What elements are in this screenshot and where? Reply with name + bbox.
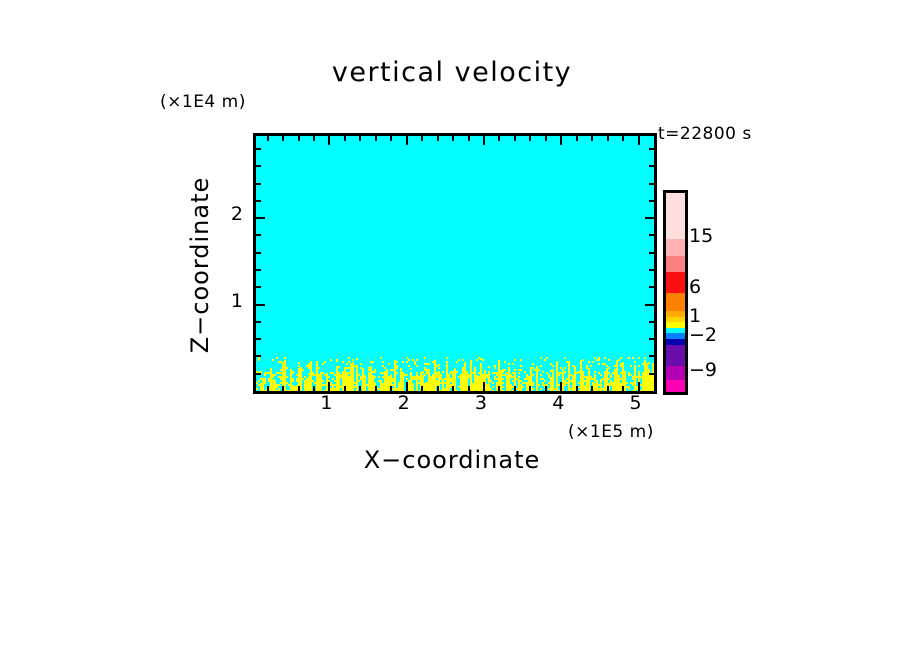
tick-top-minor [529, 136, 531, 141]
tick-top-minor [545, 136, 547, 141]
z-axis-unit-label: (×1E4 m) [160, 92, 246, 112]
tick-right-minor [649, 321, 654, 323]
tick-top-minor [591, 136, 593, 141]
colorbar-tick-label: −2 [689, 324, 717, 346]
x-axis-unit-label: (×1E5 m) [568, 422, 654, 442]
tick-top-major [483, 136, 485, 145]
x-tick-label: 4 [543, 392, 573, 414]
tick-top-minor [498, 136, 500, 141]
tick-bottom-minor [452, 386, 454, 391]
tick-right-minor [649, 234, 654, 236]
z-axis-title: Z−coordinate [186, 160, 216, 370]
tick-bottom-minor [437, 386, 439, 391]
x-axis-title: X−coordinate [0, 446, 904, 474]
tick-top-minor [576, 136, 578, 141]
x-tick-label: 5 [621, 392, 651, 414]
x-tick-label: 3 [466, 392, 496, 414]
tick-right-minor [649, 286, 654, 288]
tick-top-minor [313, 136, 315, 141]
tick-bottom-minor [545, 386, 547, 391]
tick-right-minor [649, 338, 654, 340]
colorbar [663, 190, 688, 395]
velocity-field [256, 136, 654, 391]
tick-top-minor [390, 136, 392, 141]
tick-top-minor [607, 136, 609, 141]
tick-bottom-minor [529, 386, 531, 391]
tick-top-major [560, 136, 562, 145]
tick-top-minor [282, 136, 284, 141]
tick-bottom-minor [298, 386, 300, 391]
tick-left-minor [256, 373, 261, 375]
tick-top-minor [622, 136, 624, 141]
tick-top-minor [359, 136, 361, 141]
tick-top-minor [375, 136, 377, 141]
tick-left-major [256, 304, 265, 306]
colorbar-band [666, 293, 685, 313]
tick-left-minor [256, 338, 261, 340]
x-tick-label: 2 [389, 392, 419, 414]
tick-bottom-minor [591, 386, 593, 391]
tick-left-major [256, 217, 265, 219]
colorbar-band [666, 366, 685, 381]
plot-area [253, 133, 657, 394]
tick-bottom-minor [359, 386, 361, 391]
tick-left-minor [256, 252, 261, 254]
tick-top-minor [452, 136, 454, 141]
tick-right-minor [649, 165, 654, 167]
y-tick-label: 1 [213, 290, 243, 312]
tick-bottom-minor [282, 386, 284, 391]
tick-right-minor [649, 200, 654, 202]
tick-left-minor [256, 286, 261, 288]
tick-left-minor [256, 183, 261, 185]
colorbar-band [666, 272, 685, 294]
tick-top-major [406, 136, 408, 145]
tick-right-minor [649, 252, 654, 254]
tick-right-minor [649, 183, 654, 185]
figure-canvas: vertical velocity (×1E4 m) (×1E5 m) X−co… [0, 0, 904, 654]
tick-bottom-major [483, 382, 485, 391]
tick-right-major [645, 304, 654, 306]
tick-bottom-minor [498, 386, 500, 391]
tick-right-minor [649, 355, 654, 357]
tick-bottom-major [406, 382, 408, 391]
colorbar-band [666, 256, 685, 273]
tick-bottom-minor [267, 386, 269, 391]
tick-top-minor [514, 136, 516, 141]
y-tick-label: 2 [213, 203, 243, 225]
tick-top-minor [468, 136, 470, 141]
tick-bottom-minor [607, 386, 609, 391]
x-tick-label: 1 [311, 392, 341, 414]
tick-top-major [328, 136, 330, 145]
boundary-layer-turbulence [256, 357, 654, 391]
tick-right-minor [649, 148, 654, 150]
tick-bottom-minor [390, 386, 392, 391]
tick-top-minor [421, 136, 423, 141]
tick-left-minor [256, 148, 261, 150]
tick-right-major [645, 217, 654, 219]
tick-top-minor [298, 136, 300, 141]
time-annotation: t=22800 s [658, 124, 752, 144]
colorbar-tick-label: 6 [689, 276, 701, 298]
tick-bottom-minor [468, 386, 470, 391]
tick-bottom-major [638, 382, 640, 391]
tick-right-minor [649, 373, 654, 375]
tick-bottom-major [560, 382, 562, 391]
colorbar-tick-label: 15 [689, 225, 713, 247]
colorbar-band [666, 239, 685, 257]
tick-top-major [638, 136, 640, 145]
tick-right-minor [649, 269, 654, 271]
tick-bottom-minor [622, 386, 624, 391]
tick-left-minor [256, 269, 261, 271]
tick-bottom-minor [576, 386, 578, 391]
tick-bottom-minor [421, 386, 423, 391]
colorbar-band [666, 380, 685, 393]
colorbar-band [666, 345, 685, 367]
tick-bottom-major [328, 382, 330, 391]
colorbar-tick-label: −9 [689, 359, 717, 381]
page-title: vertical velocity [0, 57, 904, 88]
tick-left-minor [256, 165, 261, 167]
tick-left-minor [256, 355, 261, 357]
tick-top-minor [437, 136, 439, 141]
tick-bottom-minor [313, 386, 315, 391]
tick-bottom-minor [375, 386, 377, 391]
tick-left-minor [256, 200, 261, 202]
tick-left-minor [256, 321, 261, 323]
tick-bottom-minor [514, 386, 516, 391]
tick-top-minor [267, 136, 269, 141]
tick-bottom-minor [344, 386, 346, 391]
colorbar-band [666, 193, 685, 239]
tick-left-minor [256, 234, 261, 236]
tick-top-minor [344, 136, 346, 141]
